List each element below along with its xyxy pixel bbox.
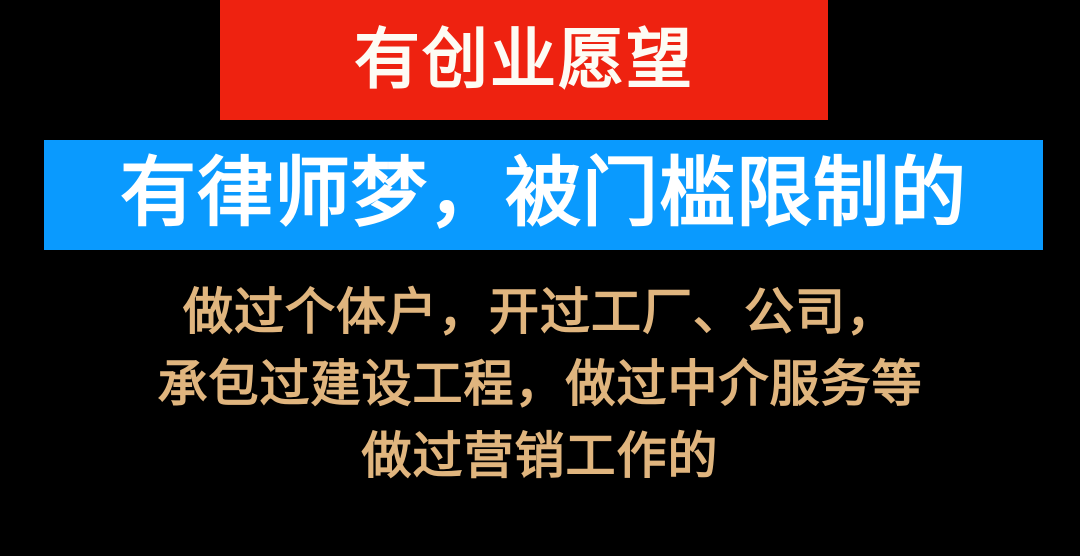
- body-line-2: 承包过建设工程，做过中介服务等: [158, 348, 923, 420]
- blue-highlight-banner: 有律师梦，被门槛限制的: [44, 140, 1043, 250]
- blue-banner-headline: 有律师梦，被门槛限制的: [120, 156, 967, 232]
- body-line-1: 做过个体户，开过工厂、公司，: [183, 276, 897, 348]
- red-highlight-banner: 有创业愿望: [220, 0, 828, 120]
- red-banner-headline: 有创业愿望: [354, 26, 694, 92]
- body-text-block: 做过个体户，开过工厂、公司， 承包过建设工程，做过中介服务等 做过营销工作的: [0, 276, 1080, 492]
- body-line-3: 做过营销工作的: [362, 420, 719, 492]
- poster-canvas: 有创业愿望 有律师梦，被门槛限制的 做过个体户，开过工厂、公司， 承包过建设工程…: [0, 0, 1080, 556]
